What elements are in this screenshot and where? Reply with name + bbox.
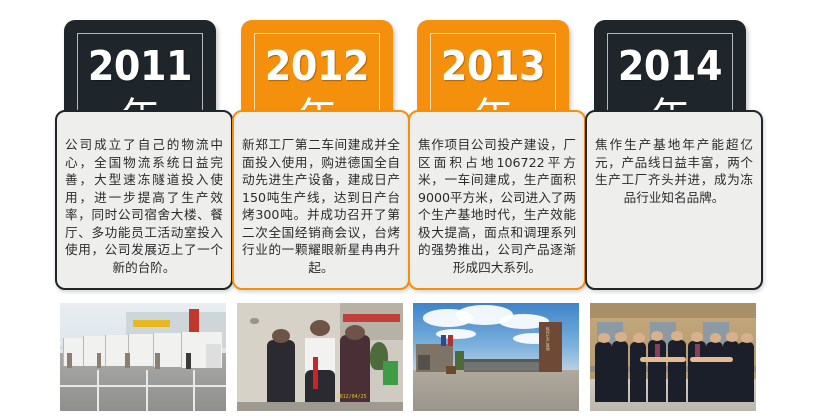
description-card-2013: 焦作项目公司投产建设，厂区面积占地106722平方米，一车间建成，生产面积900… [408,110,586,290]
description-card-2012: 新郑工厂第二车间建成并全面投入使用，购进德国全自动先进生产设备，建成日产150吨… [232,110,410,290]
timeline-entry-2012[interactable]: 2012 年 新郑工厂第二车间建成并全面投入使用，购进德国全自动先进生产设备，建… [232,0,410,416]
photo-timestamp: 2012/04/25 [337,394,367,400]
timeline-entry-2013[interactable]: 2013 年 焦作项目公司投产建设，厂区面积占地106722平方米，一车间建成，… [408,0,586,416]
description-text: 焦作项目公司投产建设，厂区面积占地106722平方米，一车间建成，生产面积900… [418,136,576,276]
truck-fleet-photo [60,303,226,411]
year-number: 2012 [246,46,387,87]
company-history-timeline: 2011 年 公司成立了自己的物流中心，全国物流系统日益完善，大型速冻隧道投入使… [0,0,813,416]
year-number: 2013 [422,46,563,87]
description-card-2014: 焦作生产基地年产能超亿元，产品线日益丰富，两个生产工厂齐头并进，成为冻品行业知名… [585,110,763,290]
description-text: 焦作生产基地年产能超亿元，产品线日益丰富，两个生产工厂齐头并进，成为冻品行业知名… [595,136,753,206]
timeline-entry-2014[interactable]: 2014 年 焦作生产基地年产能超亿元，产品线日益丰富，两个生产工厂齐头并进，成… [585,0,763,416]
executive-team-photo [590,303,756,411]
description-card-2011: 公司成立了自己的物流中心，全国物流系统日益完善，大型速冻隧道投入使用，进一步提高… [55,110,233,290]
timeline-entry-2011[interactable]: 2011 年 公司成立了自己的物流中心，全国物流系统日益完善，大型速冻隧道投入使… [55,0,233,416]
year-number: 2014 [599,46,740,87]
description-text: 公司成立了自己的物流中心，全国物流系统日益完善，大型速冻隧道投入使用，进一步提高… [65,136,223,276]
ribbon-cutting-ceremony-photo: 2012/04/25 [237,303,403,411]
year-number: 2011 [69,46,210,87]
description-text: 新郑工厂第二车间建成并全面投入使用，购进德国全自动先进生产设备，建成日产150吨… [242,136,400,276]
factory-gate-photo: 焦作生产基地 [413,303,579,411]
